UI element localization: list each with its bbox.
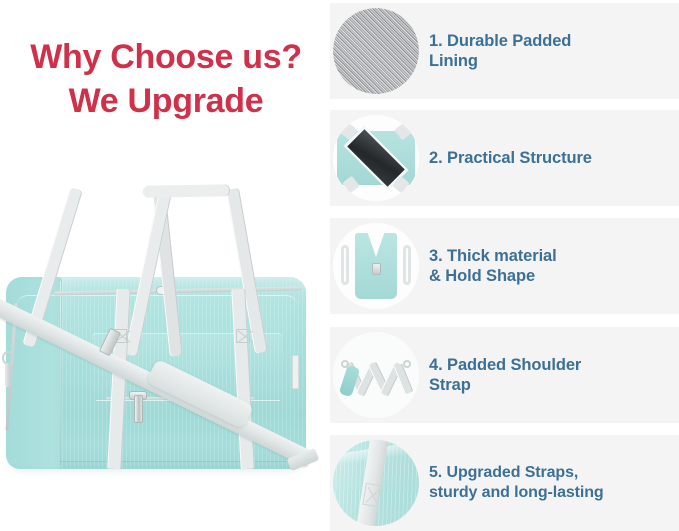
list-item: 4. Padded Shoulder Strap [330, 327, 679, 423]
feature-list: 1. Durable Padded Lining 2. Practical St… [330, 0, 679, 531]
bag-handle-loop-left [341, 245, 349, 285]
strap-stitching-closeup-icon [333, 440, 419, 526]
bag-bottom-seam [60, 461, 298, 462]
shoulder-strap-icon [333, 332, 419, 418]
feature-label: 4. Padded Shoulder Strap [429, 355, 581, 396]
bag-side-seam [60, 281, 61, 465]
page-title: Why Choose us? We Upgrade [8, 36, 324, 123]
strap-clip-left-icon [341, 360, 349, 368]
page-title-line-1: Why Choose us? [30, 38, 302, 76]
page-title-line-2: We Upgrade [8, 80, 324, 124]
list-item: 1. Durable Padded Lining [330, 3, 679, 99]
clip-tongue-icon [5, 363, 10, 387]
bag-handle-loop-right [403, 245, 411, 285]
bag-pocket-zipper-pull [134, 395, 143, 423]
bag-zipper-pull [372, 263, 381, 275]
bag-stitch-box-right [236, 329, 250, 343]
infographic-page: Why Choose us? We Upgrade [0, 0, 679, 531]
feature-label: 5. Upgraded Straps, sturdy and long-last… [429, 463, 604, 503]
open-bag-top-view-icon [333, 115, 419, 201]
feature-label: 2. Practical Structure [429, 148, 592, 168]
feature-label: 3. Thick material & Hold Shape [429, 246, 557, 287]
strap-clip-right-icon [403, 360, 411, 368]
list-item: 3. Thick material & Hold Shape [330, 218, 679, 314]
bag-side-clip [1, 351, 15, 387]
product-image-duffel-bag [0, 185, 330, 531]
bag-handle-grip [142, 184, 230, 198]
bag-brand-tag [292, 355, 299, 389]
feature-label: 1. Durable Padded Lining [429, 31, 571, 72]
x-stitch-reinforcement [362, 483, 381, 507]
list-item: 5. Upgraded Straps, sturdy and long-last… [330, 435, 679, 531]
left-panel: Why Choose us? We Upgrade [0, 0, 330, 531]
list-item: 2. Practical Structure [330, 110, 679, 206]
twill-fabric-swatch-icon [333, 8, 419, 94]
upright-bag-icon [333, 223, 419, 309]
twill-texture [333, 8, 419, 94]
